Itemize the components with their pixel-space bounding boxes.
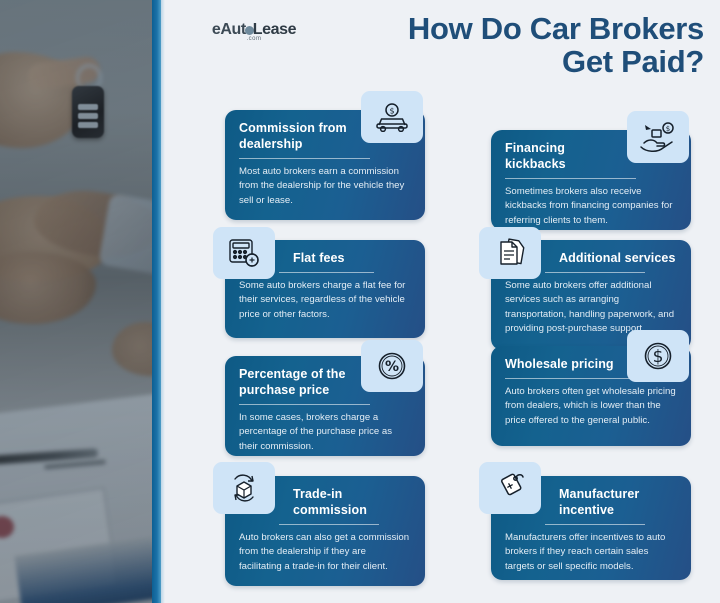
card-icon-badge: $ <box>627 111 689 163</box>
brand-logo-main: eAut <box>212 21 246 38</box>
dollar-circle-icon: $ <box>641 339 675 373</box>
photo-vignette <box>0 0 152 603</box>
card-body: Some auto brokers offer additional servi… <box>505 279 677 337</box>
page-title-line-2: Get Paid? <box>284 45 704 78</box>
svg-text:%: % <box>385 359 399 375</box>
card-divider <box>239 404 370 405</box>
card-icon-badge <box>213 462 275 514</box>
card-body: Some auto brokers charge a flat fee for … <box>239 279 411 323</box>
card-divider <box>505 378 636 379</box>
blue-accent-bar <box>152 0 161 603</box>
car-dollar-icon: $ <box>374 102 410 132</box>
card-icon-badge <box>479 462 541 514</box>
price-tag-icon <box>493 472 527 504</box>
percent-circle-icon: % <box>375 349 409 383</box>
svg-text:$: $ <box>666 125 670 133</box>
content-area: eAutLease .com How Do Car Brokers Get Pa… <box>165 0 720 603</box>
cards-grid: Commission from dealership Most auto bro… <box>165 88 720 603</box>
card-icon-badge <box>479 227 541 279</box>
page-title-line-1: How Do Car Brokers <box>284 12 704 45</box>
card-body: Sometimes brokers also receive kickbacks… <box>505 185 677 229</box>
hand-money-icon: $ <box>639 121 677 153</box>
card-body: Manufacturers offer incentives to auto b… <box>505 531 677 575</box>
card-icon-badge <box>213 227 275 279</box>
infographic-root: eAutLease .com How Do Car Brokers Get Pa… <box>0 0 720 603</box>
calculator-icon <box>227 237 261 269</box>
card-body: Auto brokers often get wholesale pricing… <box>505 385 677 429</box>
card-body: Auto brokers can also get a commission f… <box>239 531 411 575</box>
card-divider <box>545 524 645 525</box>
card-icon-badge: $ <box>627 330 689 382</box>
svg-text:$: $ <box>389 107 394 116</box>
card-icon-badge: $ <box>361 91 423 143</box>
card-divider <box>239 158 370 159</box>
card-divider <box>545 272 645 273</box>
card-body: In some cases, brokers charge a percenta… <box>239 411 411 455</box>
page-title: How Do Car Brokers Get Paid? <box>284 12 704 79</box>
header: eAutLease .com How Do Car Brokers Get Pa… <box>165 0 720 88</box>
svg-text:$: $ <box>653 347 664 367</box>
exchange-box-icon <box>227 472 261 504</box>
dealership-photo <box>0 0 152 603</box>
card-icon-badge: % <box>361 340 423 392</box>
card-divider <box>279 272 374 273</box>
card-divider <box>505 178 636 179</box>
documents-icon <box>493 237 527 269</box>
card-body: Most auto brokers earn a commission from… <box>239 165 411 209</box>
card-divider <box>279 524 379 525</box>
